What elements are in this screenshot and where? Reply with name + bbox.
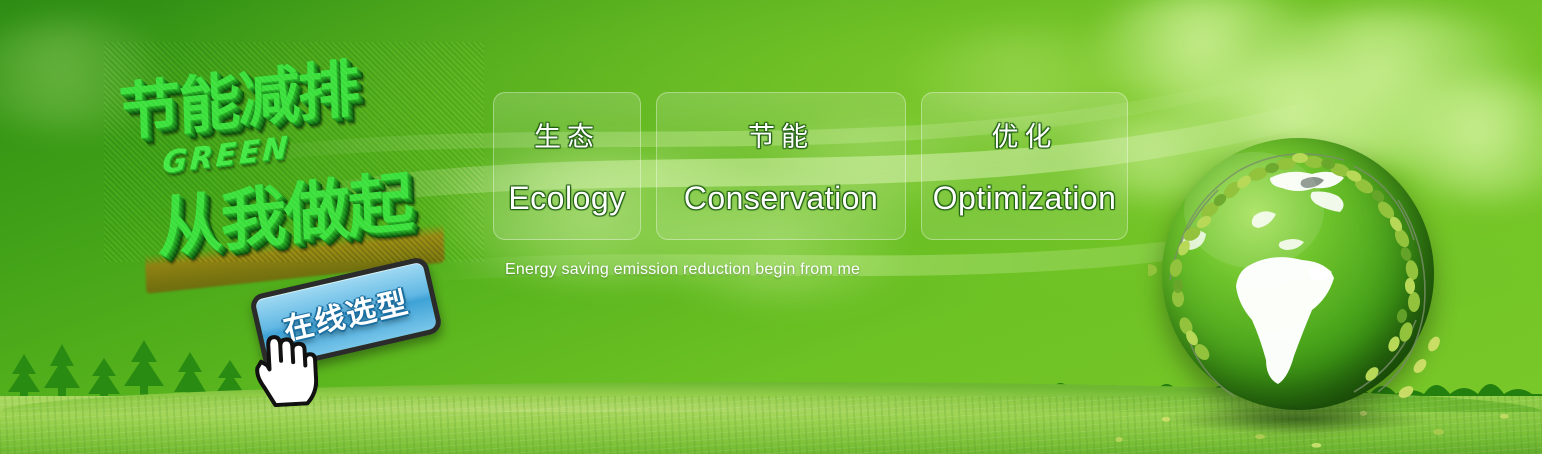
globe-sphere <box>1162 138 1434 410</box>
feature-card-en-label: Conservation <box>684 180 879 217</box>
feature-cards: 生态 Ecology 节能 Conservation 优化 Optimizati… <box>493 92 1128 240</box>
headline-3d-artwork: 节能减排 GREEN 从我做起 <box>104 42 484 262</box>
feature-card-en-label: Ecology <box>508 180 625 217</box>
globe-ground-shadow <box>1164 404 1432 434</box>
tagline: Energy saving emission reduction begin f… <box>505 261 860 279</box>
feature-card-cn-label: 生态 <box>534 115 600 154</box>
feature-card-optimization[interactable]: 优化 Optimization <box>921 92 1128 240</box>
feature-card-cn-label: 优化 <box>992 115 1058 154</box>
feature-card-ecology[interactable]: 生态 Ecology <box>493 92 641 240</box>
hand-pointer-icon <box>245 327 319 409</box>
feature-card-en-label: Optimization <box>933 180 1117 217</box>
globe-continents <box>1162 138 1434 410</box>
green-leaf-globe <box>1148 130 1448 430</box>
feature-card-cn-label: 节能 <box>748 115 814 154</box>
feature-card-conservation[interactable]: 节能 Conservation <box>656 92 906 240</box>
eco-hero-banner: 节能减排 GREEN 从我做起 在线选型 生态 Ecology 节能 Conse… <box>0 0 1542 454</box>
